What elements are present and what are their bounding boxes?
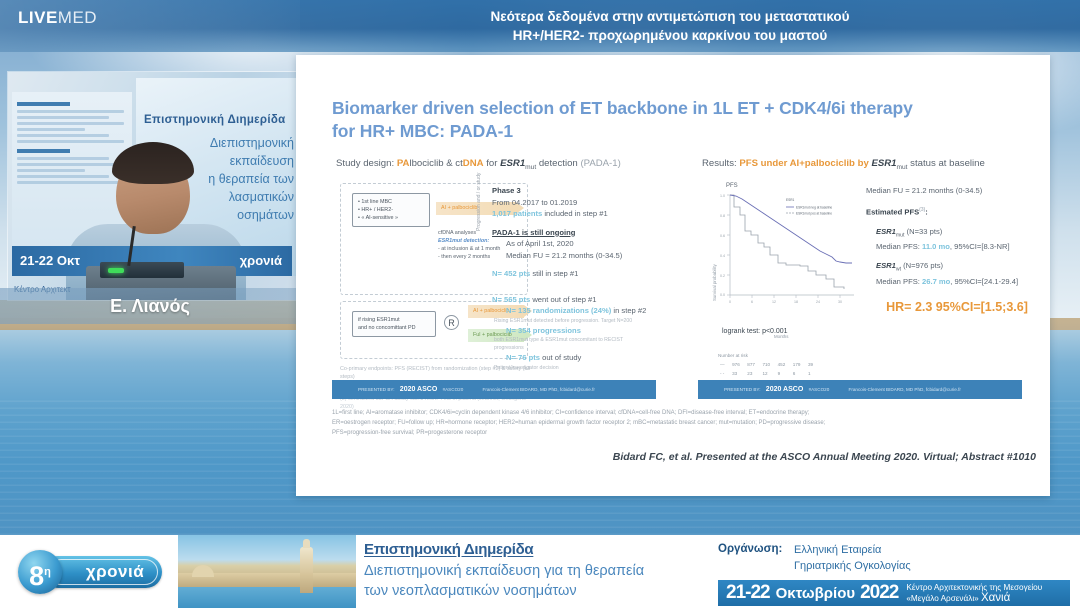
venue-line2: «Μεγάλο Αρσενάλι» Χανιά bbox=[906, 593, 1042, 604]
stat-medianfu: Median FU = 21.2 months (0-34.5) bbox=[492, 250, 652, 262]
sd-mid: for bbox=[484, 158, 501, 169]
svg-text:0: 0 bbox=[729, 300, 731, 304]
anniversary-badge-cell: χρονιά 8η bbox=[0, 535, 178, 608]
asco-r-tag: #ASCO20 bbox=[809, 387, 830, 392]
stat-rand-n: N= 135 randomizations (24%) bbox=[506, 306, 611, 315]
speaker-video-panel[interactable]: Επιστημονική Διημερίδα Διεπιστημονική εκ… bbox=[8, 72, 296, 300]
badge-word: χρονιά bbox=[70, 559, 160, 585]
km-risk-label: Number at risk bbox=[718, 352, 821, 359]
slide-title-line1: Biomarker driven selection of ET backbon… bbox=[332, 97, 1022, 120]
organizer-label: Οργάνωση: bbox=[718, 543, 794, 555]
sd-dna: DNA bbox=[463, 158, 484, 169]
stat-out-study: N= 76 pts out of study bbox=[492, 352, 652, 364]
footnote-line3: PFS=progression-free survival; PR=proges… bbox=[332, 428, 1032, 438]
stat-progressions: N= 354 progressions bbox=[492, 325, 652, 337]
km-risk-n4: 179 bbox=[793, 361, 806, 368]
stat-rand-tail: in step #2 bbox=[611, 306, 646, 315]
svg-text:18: 18 bbox=[794, 300, 798, 304]
sd-esr1: ESR1 bbox=[500, 158, 525, 169]
badge-number: 8η bbox=[18, 550, 62, 594]
svg-text:0.2: 0.2 bbox=[720, 274, 725, 278]
km-risk-p3: 9 bbox=[778, 370, 791, 377]
badge-number-text: 8 bbox=[29, 561, 44, 591]
bottom-banner: χρονιά 8η Επιστημονική Διημερίδα Διεπιστ… bbox=[0, 535, 1080, 608]
lighthouse-icon bbox=[300, 547, 313, 593]
svg-text:6: 6 bbox=[751, 300, 753, 304]
asco-l-author: Francois-Clement BIDARD, MD PhD, fcbidar… bbox=[465, 387, 595, 392]
km-risk-marker-neg: — bbox=[720, 361, 730, 368]
stat-randomizations: N= 135 randomizations (24%) in step #2 bbox=[492, 305, 652, 317]
svg-text:ESR1: ESR1 bbox=[786, 198, 795, 202]
svg-text:1.0: 1.0 bbox=[720, 194, 725, 198]
asco-l-mark: 2020 ASCO bbox=[396, 386, 441, 393]
res-medianfu: Median FU = 21.2 months (0-34.5) bbox=[866, 185, 1041, 197]
results-text-block: Median FU = 21.2 months (0-34.5) Estimat… bbox=[866, 185, 1041, 288]
svg-text:12: 12 bbox=[772, 300, 776, 304]
km-risk-marker-pos: - - bbox=[720, 370, 730, 377]
venue-line1: Κέντρο Αρχιτεκτονικής της Μεσογείου bbox=[906, 582, 1042, 593]
flow-eligibility-box: • 1st line MBC • HR+ / HER2- • « AI-sens… bbox=[352, 193, 430, 227]
event-sub-line2: των νεοπλασματικών νοσημάτων bbox=[364, 581, 704, 601]
res-g2-esr1: ESR1 bbox=[876, 261, 896, 270]
anniversary-badge: χρονιά 8η bbox=[14, 550, 164, 594]
km-y-axis-label: Survival probability bbox=[712, 264, 717, 301]
stat-enrolled: 1,017 patients included in step #1 bbox=[492, 208, 652, 220]
stat-outstudy-note: Patient/investigator decision bbox=[492, 364, 652, 372]
flow-crit-2: and no concomittant PD bbox=[358, 324, 430, 332]
flow-vlabel-progression-1: Progression and / or study bbox=[476, 173, 482, 231]
res-g1-val: 11.0 mo bbox=[922, 242, 950, 251]
stat-period: From 04.2017 to 01.2019 bbox=[492, 197, 652, 209]
badge-number-sup: η bbox=[44, 566, 51, 578]
backdrop-chronia: χρονιά bbox=[240, 246, 292, 276]
svg-text:0.4: 0.4 bbox=[720, 254, 725, 258]
sd-sub: mut bbox=[525, 164, 536, 171]
svg-text:0.0: 0.0 bbox=[720, 293, 725, 297]
svg-text:24: 24 bbox=[816, 300, 820, 304]
rh-hi: PFS under AI+palbociclib by bbox=[739, 158, 871, 169]
slide-abbreviations: 1L=first line; AI=aromatase inhibitor; C… bbox=[332, 408, 1032, 438]
study-stats-column: Phase 3 From 04.2017 to 01.2019 1,017 pa… bbox=[492, 185, 652, 372]
hazard-ratio-value: HR= 2.3 95%CI=[1.5;3.6] bbox=[872, 300, 1042, 314]
study-design-header: Study design: PAlbociclib & ctDNA for ES… bbox=[336, 158, 621, 171]
sd-prefix: Study design: bbox=[336, 158, 397, 169]
km-number-at-risk: Number at risk — 976 877 710 452 179 39 … bbox=[718, 352, 821, 379]
logo-live: LIVE bbox=[18, 8, 58, 27]
event-subtitle: Διεπιστημονική εκπαίδευση για τη θεραπεί… bbox=[364, 561, 704, 601]
backdrop-dates: 21-22 Οκτ bbox=[20, 253, 80, 268]
stat-still-tail: still in step #1 bbox=[530, 269, 578, 278]
res-g1-sub: mut bbox=[896, 232, 905, 238]
stat-out-n: N= 565 pts bbox=[492, 295, 530, 304]
km-logrank-annotation: logrank test: p<0.001 bbox=[722, 328, 788, 335]
event-date-month: Οκτωβρίου bbox=[776, 585, 860, 602]
res-group2-pfs: Median PFS: 26.7 mo, 95%CI=[24.1-29.4] bbox=[866, 276, 1041, 288]
rh-prefix: Results: bbox=[702, 158, 739, 169]
header-title-line2: HR+/HER2- προχωρημένου καρκίνου του μαστ… bbox=[300, 26, 1040, 45]
organizer-line2: Γηριατρικής Ογκολογίας bbox=[794, 559, 911, 575]
res-g1-ci: , 95%CI=[8.3-NR] bbox=[950, 242, 1010, 251]
svg-text:0.6: 0.6 bbox=[720, 234, 725, 238]
event-sub-line1: Διεπιστημονική εκπαίδευση για τη θεραπεί… bbox=[364, 561, 704, 581]
event-title: Επιστημονική Διημερίδα bbox=[364, 541, 704, 558]
event-date-year: 2022 bbox=[860, 582, 906, 604]
asco-bar-left: PRESENTED BY: 2020 ASCO #ASCO20 Francois… bbox=[332, 380, 656, 399]
asco-l-tag: #ASCO20 bbox=[443, 387, 464, 392]
event-venue: Κέντρο Αρχιτεκτονικής της Μεσογείου «Μεγ… bbox=[906, 582, 1042, 604]
rh-esr1: ESR1 bbox=[871, 158, 896, 169]
stat-outstudy-n: N= 76 pts bbox=[506, 353, 540, 362]
km-plot-svg: 1.00.8 0.60.4 0.20.0 0612 18243 bbox=[704, 183, 862, 333]
footnote-line1: 1L=first line; AI=aromatase inhibitor; C… bbox=[332, 408, 1032, 418]
km-risk-p1: 23 bbox=[747, 370, 760, 377]
res-g2-n: (N=976 pts) bbox=[901, 261, 943, 270]
logo-med: MED bbox=[58, 8, 97, 27]
event-date-bar: 21-22 Οκτωβρίου 2022 Κέντρο Αρχιτεκτονικ… bbox=[718, 580, 1070, 606]
organizer-block: Οργάνωση: Ελληνική Εταιρεία Γηριατρικής … bbox=[718, 543, 1068, 574]
res-g1-n: (N=33 pts) bbox=[905, 227, 943, 236]
km-risk-row-neg: — 976 877 710 452 179 39 bbox=[720, 361, 819, 368]
asco-r-author: Francois-Clement BIDARD, MD PhD, fcbidar… bbox=[831, 387, 961, 392]
asco-bar-right: PRESENTED BY: 2020 ASCO #ASCO20 Francois… bbox=[698, 380, 1022, 399]
km-risk-n2: 710 bbox=[762, 361, 775, 368]
speaker-name-bar: Ε. Λιανός bbox=[0, 288, 300, 324]
footnote-line2: ER=oestrogen receptor; FU=follow up; HR=… bbox=[332, 418, 1032, 428]
event-text-block: Επιστημονική Διημερίδα Διεπιστημονική εκ… bbox=[364, 541, 704, 601]
stat-still-step1: N= 452 pts still in step #1 bbox=[492, 268, 652, 280]
stat-ongoing: PADA-1 is still ongoing bbox=[492, 227, 652, 239]
venue-dome bbox=[192, 565, 214, 577]
res-group1-pfs: Median PFS: 11.0 mo, 95%CI=[8.3-NR] bbox=[866, 241, 1041, 253]
livemed-logo[interactable]: LIVEMED bbox=[18, 8, 97, 28]
stat-rand-note: Rising ESR1mut detected before progressi… bbox=[492, 317, 652, 325]
header-title: Νεότερα δεδομένα στην αντιμετώπιση του μ… bbox=[300, 7, 1040, 45]
venue-line2a: «Μεγάλο Αρσενάλι» bbox=[906, 594, 978, 603]
sd-lbo: lbociclib & ct bbox=[409, 158, 462, 169]
stat-out-step1: N= 565 pts went out of step #1 bbox=[492, 294, 652, 306]
organizer-value: Ελληνική Εταιρεία Γηριατρικής Ογκολογίας bbox=[794, 543, 911, 574]
km-risk-n5: 39 bbox=[808, 361, 819, 368]
stat-still-n: N= 452 pts bbox=[492, 269, 530, 278]
stat-asof: As of April 1st, 2020 bbox=[492, 238, 652, 250]
backdrop-title: Επιστημονική Διημερίδα bbox=[144, 114, 294, 126]
presentation-slide[interactable]: Biomarker driven selection of ET backbon… bbox=[296, 55, 1050, 496]
km-risk-n0: 976 bbox=[732, 361, 745, 368]
venue-line2b: Χανιά bbox=[981, 592, 1010, 604]
km-risk-p5: 1 bbox=[808, 370, 819, 377]
sd-tail: detection bbox=[536, 158, 580, 169]
flow-elig-1: • 1st line MBC bbox=[358, 198, 424, 206]
stat-prog-note: both ESR1mut type & ESR1mut concomitant … bbox=[492, 336, 652, 352]
km-risk-p2: 12 bbox=[762, 370, 775, 377]
stat-outstudy-tail: out of study bbox=[540, 353, 581, 362]
km-risk-table: — 976 877 710 452 179 39 - - 33 23 12 9 bbox=[718, 359, 821, 379]
km-risk-n1: 877 bbox=[747, 361, 760, 368]
randomization-node: R bbox=[444, 315, 459, 330]
km-risk-row-pos: - - 33 23 12 9 6 1 bbox=[720, 370, 819, 377]
results-header: Results: PFS under AI+palbociclib by ESR… bbox=[702, 158, 985, 171]
asco-r-mark: 2020 ASCO bbox=[762, 386, 807, 393]
event-date-days: 21-22 bbox=[718, 582, 776, 604]
res-est-colon: : bbox=[925, 208, 928, 217]
stat-enrolled-tail: included in step #1 bbox=[542, 209, 607, 218]
slide-title-line2: for HR+ MBC: PADA-1 bbox=[332, 120, 1022, 143]
screen-root: LIVEMED Νεότερα δεδομένα στην αντιμετώπι… bbox=[0, 0, 1080, 608]
venue-photo bbox=[178, 535, 356, 608]
res-group1-name: ESR1mut (N=33 pts) bbox=[866, 226, 1041, 242]
speaker-name: Ε. Λιανός bbox=[110, 296, 190, 317]
res-group2-name: ESR1wt (N=976 pts) bbox=[866, 260, 1041, 276]
laptop-led-icon bbox=[108, 268, 124, 273]
res-estimated-label: Estimated PFS(3): bbox=[866, 204, 1041, 219]
rh-tail: status at baseline bbox=[908, 158, 985, 169]
header-title-line1: Νεότερα δεδομένα στην αντιμετώπιση του μ… bbox=[300, 7, 1040, 26]
sd-pa: PA bbox=[397, 158, 410, 169]
km-survival-chart: PFS 1.00.8 0.60.4 0.20.0 bbox=[704, 183, 862, 383]
asco-l-presented: PRESENTED BY: bbox=[332, 387, 395, 392]
res-g2-ci: , 95%CI=[24.1-29.4] bbox=[950, 277, 1018, 286]
svg-text:ESR1mut neg at baseline: ESR1mut neg at baseline bbox=[796, 206, 832, 210]
asco-r-presented: PRESENTED BY: bbox=[698, 387, 761, 392]
stat-phase: Phase 3 bbox=[492, 185, 652, 197]
flow-randomize-criteria-box: if rising ESR1mut and no concomittant PD bbox=[352, 311, 436, 337]
flow-crit-1: if rising ESR1mut bbox=[358, 316, 430, 324]
res-g1-esr1: ESR1 bbox=[876, 227, 896, 236]
slide-citation: Bidard FC, et al. Presented at the ASCO … bbox=[536, 451, 1036, 463]
km-risk-n3: 452 bbox=[778, 361, 791, 368]
organizer-line1: Ελληνική Εταιρεία bbox=[794, 543, 911, 559]
km-risk-p0: 33 bbox=[732, 370, 745, 377]
rh-sub: mut bbox=[897, 164, 908, 171]
res-g1-label: Median PFS: bbox=[876, 242, 922, 251]
res-est-text: Estimated PFS bbox=[866, 208, 919, 217]
stat-enrolled-n: 1,017 patients bbox=[492, 209, 542, 218]
flow-elig-2: • HR+ / HER2- bbox=[358, 206, 424, 214]
svg-text:ESR1mut pos at baseline: ESR1mut pos at baseline bbox=[796, 212, 832, 216]
stat-out-tail: went out of step #1 bbox=[530, 295, 596, 304]
svg-text:0.8: 0.8 bbox=[720, 214, 725, 218]
km-risk-p4: 6 bbox=[793, 370, 806, 377]
flow-elig-3: • « AI-sensitive » bbox=[358, 214, 424, 222]
res-g2-val: 26.7 mo bbox=[922, 277, 950, 286]
km-chart-title: PFS bbox=[726, 183, 738, 189]
slide-title: Biomarker driven selection of ET backbon… bbox=[332, 97, 1022, 143]
res-g2-label: Median PFS: bbox=[876, 277, 922, 286]
sd-dim: (PADA-1) bbox=[580, 158, 620, 169]
svg-text:30: 30 bbox=[838, 300, 842, 304]
